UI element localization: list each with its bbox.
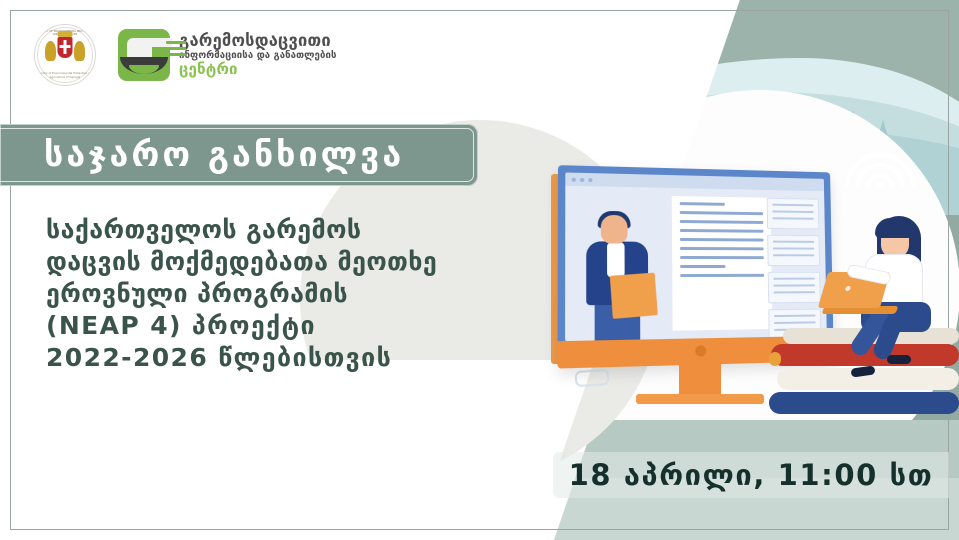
- sidebar-cards: [767, 198, 821, 329]
- woman-with-laptop-icon: [817, 210, 937, 360]
- headline-block: საქართველოს გარემოს დაცვის მოქმედებათა მ…: [46, 214, 476, 374]
- event-date-strip: 18 აპრილი, 11:00 სთ: [553, 452, 949, 498]
- document-preview: [672, 196, 773, 331]
- headline-line-5: 2022-2026 წლებისთვის: [46, 342, 476, 374]
- background-wedge-white-bottom: [0, 360, 594, 540]
- seal-caption: Ministry of Environmental Protection and…: [35, 72, 95, 79]
- paper-clip-icon-2: [574, 369, 609, 387]
- window-content: [565, 186, 827, 341]
- monitor-stand-foot: [636, 394, 764, 404]
- title-banner: საჯარო განხილვა: [0, 124, 478, 186]
- wifi-signal-icon: [845, 144, 915, 188]
- brand-line-3: ცენტრი: [179, 62, 337, 78]
- monitor-viewport: [565, 172, 827, 341]
- headline-line-3: ეროვნული პროგრამის: [46, 278, 476, 310]
- page-title: საჯარო განხილვა: [0, 135, 404, 175]
- folder-icon: [610, 273, 658, 319]
- brand-logo: გარემოსდაცვითი ინფორმაციისა და განათლები…: [118, 29, 337, 81]
- brand-line-1: გარემოსდაცვითი: [179, 32, 337, 49]
- header-logos: MINISTRY OF ENVIRONMENTAL PROTECTION AND…: [34, 24, 337, 86]
- illustration: [545, 120, 959, 420]
- headline-line-1: საქართველოს გარემოს: [46, 214, 476, 246]
- presenter-figure-icon: [580, 208, 657, 340]
- event-date-text: 18 აპრილი, 11:00 სთ: [569, 458, 934, 492]
- book-square-logo-icon: [118, 29, 170, 81]
- poster-canvas: MINISTRY OF ENVIRONMENTAL PROTECTION AND…: [0, 0, 959, 540]
- headline-line-2: დაცვის მოქმედებათა მეოთხე: [46, 246, 476, 278]
- headline-line-4: (NEAP 4) პროექტი: [46, 310, 476, 342]
- georgia-ministry-emblem-icon: MINISTRY OF ENVIRONMENTAL PROTECTION AND…: [34, 24, 96, 86]
- brand-text: გარემოსდაცვითი ინფორმაციისა და განათლები…: [179, 32, 337, 77]
- monitor-stand-neck: [679, 364, 721, 396]
